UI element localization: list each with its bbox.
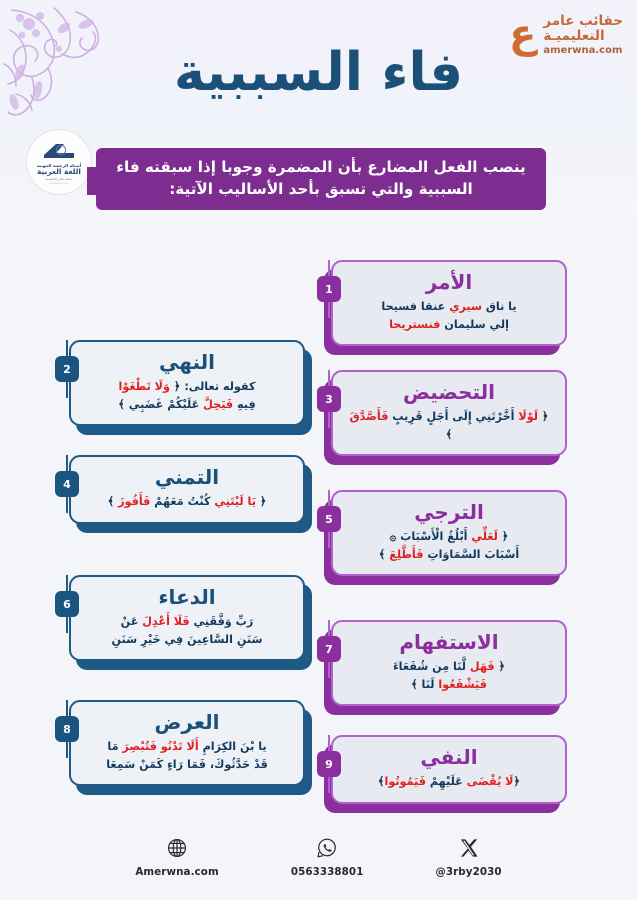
plain-text: ﴿ xyxy=(495,660,505,673)
highlighted-word: فَأَطَّلِعَ xyxy=(389,548,423,561)
plain-text: أَبْلُغُ الْأَسْبَابَ ۞ xyxy=(390,530,472,543)
plain-text: إلي سليمان xyxy=(440,318,509,331)
card-title: الاستفهام xyxy=(347,631,551,654)
footer-item-globe[interactable]: Amerwna.com xyxy=(135,837,218,878)
highlighted-word: فَيَشْفَعُوا xyxy=(438,678,487,691)
card-number-badge-7: 7 xyxy=(317,636,341,662)
card-example-line: فَيَشْفَعُوا لَنَا ﴾ xyxy=(347,676,551,694)
card-number-badge-9: 9 xyxy=(317,751,341,777)
method-card-4[interactable]: التمني﴿ يَا لَيْتَنِي كُنْتُ مَعَهُمْ فَ… xyxy=(69,455,305,524)
card-example-text: ﴿ لَوْلَا أَخَّرْتَنِي إِلَى أَجَلٍ قَرِ… xyxy=(347,408,551,443)
footer-label: @3rby2030 xyxy=(435,866,501,878)
whatsapp-icon xyxy=(316,837,338,859)
plain-text: أَخَّرْتَنِي إِلَى أَجَلٍ قَرِيبٍ xyxy=(388,410,518,423)
card-example-line: أَسْبَابَ السَّمَاوَاتِ فَأَطَّلِعَ ﴾ xyxy=(347,546,551,564)
plain-text: ﴿ xyxy=(498,530,508,543)
page-title: فاء السببية xyxy=(0,46,637,99)
plain-text: ﴾ xyxy=(108,495,118,508)
highlighted-word: لَا يُقْضَى xyxy=(467,775,514,788)
card-example-line: قَدْ حَدَّثُوكَ، فَمَا رَاءٍ كَمَنْ سَمِ… xyxy=(85,756,289,774)
method-card-9[interactable]: النفي﴿لَا يُقْضَى عَلَيْهِمْ فَيَمُوتُوا… xyxy=(331,735,567,804)
academy-seal-icon xyxy=(42,141,76,161)
method-card-6[interactable]: الدعاءرَبِّ وَفَّقَنِي فَلَا أَعْدِلَ عَ… xyxy=(69,575,305,661)
method-card-2[interactable]: النهيكقوله تعالى: ﴿ وَلَا تَطْغَوْافِيهِ… xyxy=(69,340,305,426)
card-number-badge-2: 2 xyxy=(55,356,79,382)
globe-icon xyxy=(166,837,188,859)
card-title: الدعاء xyxy=(85,586,289,609)
brand-line-1: حقائب عامر xyxy=(543,14,623,29)
academy-seal-line-3: منصة عامر التعليمية xyxy=(46,177,72,181)
highlighted-word: لَوْلَا xyxy=(518,410,538,423)
card-example-text: ﴿ لَعَلِّي أَبْلُغُ الْأَسْبَابَ ۞أَسْبَ… xyxy=(347,528,551,563)
highlighted-word: أَلَا تَدْنُو فَتُبْصِرَ xyxy=(122,740,198,753)
plain-text: ﴾ xyxy=(446,428,453,441)
highlighted-word: لَعَلِّي xyxy=(471,530,497,543)
card-example-line: ﴿ لَوْلَا أَخَّرْتَنِي إِلَى أَجَلٍ قَرِ… xyxy=(347,408,551,443)
plain-text: عَنْ xyxy=(121,615,143,628)
card-number-badge-3: 3 xyxy=(317,386,341,412)
footer-item-x-twitter[interactable]: @3rby2030 xyxy=(435,837,501,878)
method-card-1[interactable]: الأمريا ناق سيري عنقا فسيحاإلي سليمان فن… xyxy=(331,260,567,346)
plain-text: فِيهِ xyxy=(233,398,256,411)
plain-text: ﴿ xyxy=(256,495,266,508)
plain-text: كُنْتُ مَعَهُمْ xyxy=(150,495,214,508)
card-number-badge-8: 8 xyxy=(55,716,79,742)
method-card-7[interactable]: الاستفهام﴿ فَهَل لَّنَا مِن شُفَعَاءَفَي… xyxy=(331,620,567,706)
academy-seal: أسئلة الرخصة المهنية اللغة العربية منصة … xyxy=(26,129,92,195)
card-example-line: ﴿ يَا لَيْتَنِي كُنْتُ مَعَهُمْ فَأَفُوز… xyxy=(85,493,289,511)
card-number-badge-4: 4 xyxy=(55,471,79,497)
highlighted-word: فَيَمُوتُوا xyxy=(384,775,425,788)
card-example-line: ﴿ فَهَل لَّنَا مِن شُفَعَاءَ xyxy=(347,658,551,676)
card-title: الترجي xyxy=(347,501,551,524)
highlighted-word: وَلَا تَطْغَوْا xyxy=(119,380,170,393)
footer-item-whatsapp[interactable]: 0563338801 xyxy=(291,837,364,878)
highlighted-word: فَأَفُوزَ xyxy=(118,495,150,508)
plain-text: لَنَا ﴾ xyxy=(411,678,438,691)
plain-text: لَّنَا مِن شُفَعَاءَ xyxy=(393,660,470,673)
highlighted-word: فَهَل xyxy=(470,660,495,673)
method-card-3[interactable]: التحضيض﴿ لَوْلَا أَخَّرْتَنِي إِلَى أَجَ… xyxy=(331,370,567,456)
x-twitter-icon xyxy=(458,837,480,859)
highlighted-word: فَيَحِلَّ xyxy=(203,398,233,411)
card-example-text: يا ناق سيري عنقا فسيحاإلي سليمان فنستريح… xyxy=(347,298,551,333)
card-example-text: ﴿ فَهَل لَّنَا مِن شُفَعَاءَفَيَشْفَعُوا… xyxy=(347,658,551,693)
footer-label: Amerwna.com xyxy=(135,866,218,878)
intro-banner: ينصب الفعل المضارع بأن المضمرة وجوبا إذا… xyxy=(96,148,546,210)
brand-line-2: التعليميـة xyxy=(543,29,604,44)
card-title: النفي xyxy=(347,746,551,769)
academy-seal-line-2: اللغة العربية xyxy=(37,168,81,176)
card-example-text: ﴿لَا يُقْضَى عَلَيْهِمْ فَيَمُوتُوا﴾ xyxy=(347,773,551,791)
highlighted-word: سيري xyxy=(449,300,482,313)
card-number-badge-1: 1 xyxy=(317,276,341,302)
plain-text: رَبِّ وَفَّقَنِي xyxy=(190,615,254,628)
plain-text: قَدْ حَدَّثُوكَ، فَمَا رَاءٍ كَمَنْ سَمِ… xyxy=(106,758,268,771)
highlighted-word: فَلَا أَعْدِلَ xyxy=(142,615,189,628)
plain-text: عَلَيْكُمْ غَضَبِي ﴾ xyxy=(118,398,203,411)
card-title: التمني xyxy=(85,466,289,489)
card-example-text: يا بْنَ الكِرَامِ أَلَا تَدْنُو فَتُبْصِ… xyxy=(85,738,289,773)
plain-text: سَنَنِ السَّاعِينَ فِي خَيْرِ سَنَنِ xyxy=(112,633,263,646)
card-number-badge-6: 6 xyxy=(55,591,79,617)
highlighted-word: فنستريحا xyxy=(389,318,440,331)
method-card-5[interactable]: الترجي﴿ لَعَلِّي أَبْلُغُ الْأَسْبَابَ ۞… xyxy=(331,490,567,576)
card-example-line: سَنَنِ السَّاعِينَ فِي خَيْرِ سَنَنِ xyxy=(85,631,289,649)
plain-text: أَسْبَابَ السَّمَاوَاتِ xyxy=(423,548,519,561)
academy-seal-line-4: amerwna.com xyxy=(50,182,69,185)
card-example-line: ﴿لَا يُقْضَى عَلَيْهِمْ فَيَمُوتُوا﴾ xyxy=(347,773,551,791)
plain-text: مَا xyxy=(107,740,122,753)
plain-text: عنقا فسيحا xyxy=(381,300,449,313)
card-example-line: ﴿ لَعَلِّي أَبْلُغُ الْأَسْبَابَ ۞ xyxy=(347,528,551,546)
card-title: النهي xyxy=(85,351,289,374)
plain-text: ﴿ xyxy=(514,775,521,788)
card-example-line: فِيهِ فَيَحِلَّ عَلَيْكُمْ غَضَبِي ﴾ xyxy=(85,396,289,414)
card-example-text: كقوله تعالى: ﴿ وَلَا تَطْغَوْافِيهِ فَيَ… xyxy=(85,378,289,413)
plain-text: ﴿ xyxy=(538,410,548,423)
method-card-8[interactable]: العرضيا بْنَ الكِرَامِ أَلَا تَدْنُو فَت… xyxy=(69,700,305,786)
plain-text: يا ناق xyxy=(482,300,517,313)
card-number-badge-5: 5 xyxy=(317,506,341,532)
footer: Amerwna.com0563338801@3rby2030 xyxy=(0,837,637,878)
card-title: العرض xyxy=(85,711,289,734)
plain-text: عَلَيْهِمْ xyxy=(426,775,467,788)
card-title: التحضيض xyxy=(347,381,551,404)
card-example-line: رَبِّ وَفَّقَنِي فَلَا أَعْدِلَ عَنْ xyxy=(85,613,289,631)
card-title: الأمر xyxy=(347,271,551,294)
highlighted-word: فَأَصَّدَّقَ xyxy=(350,410,389,423)
card-example-text: رَبِّ وَفَّقَنِي فَلَا أَعْدِلَ عَنْسَنَ… xyxy=(85,613,289,648)
card-example-line: يا بْنَ الكِرَامِ أَلَا تَدْنُو فَتُبْصِ… xyxy=(85,738,289,756)
card-example-text: ﴿ يَا لَيْتَنِي كُنْتُ مَعَهُمْ فَأَفُوز… xyxy=(85,493,289,511)
plain-text: كقوله تعالى: ﴿ xyxy=(170,380,256,393)
card-example-line: إلي سليمان فنستريحا xyxy=(347,316,551,334)
card-example-line: يا ناق سيري عنقا فسيحا xyxy=(347,298,551,316)
card-example-line: كقوله تعالى: ﴿ وَلَا تَطْغَوْا xyxy=(85,378,289,396)
plain-text: يا بْنَ الكِرَامِ xyxy=(199,740,267,753)
cards-board: الأمريا ناق سيري عنقا فسيحاإلي سليمان فن… xyxy=(0,248,637,833)
footer-label: 0563338801 xyxy=(291,866,364,878)
plain-text: ﴾ xyxy=(379,548,389,561)
highlighted-word: يَا لَيْتَنِي xyxy=(214,495,256,508)
